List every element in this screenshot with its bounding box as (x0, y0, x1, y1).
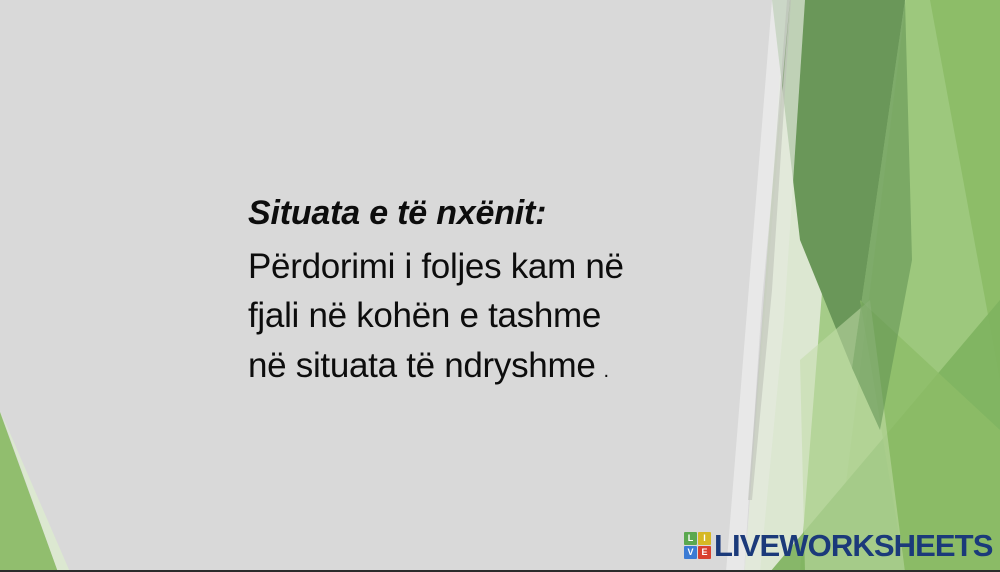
body-line-3-text: në situata të ndryshme (248, 346, 596, 385)
deco-shape-dark-v-band (772, 0, 905, 368)
deco-shape-bottom-left (0, 412, 58, 572)
logo-tile-e: E (698, 546, 711, 559)
deco-shape-light-band (800, 0, 1000, 572)
logo-wordmark: LIVEWORKSHEETS (714, 530, 992, 561)
slide-canvas: Situata e të nxënit: Përdorimi i foljes … (0, 0, 1000, 572)
logo-tile-i: I (698, 532, 711, 545)
deco-shape-bottom-left-pale (0, 410, 70, 572)
page-title: Situata e të nxënit: (248, 192, 768, 236)
body-line-1: Përdorimi i foljes kam në (248, 242, 768, 292)
deco-shape-right-bright (835, 0, 1000, 572)
trailing-period: . (596, 360, 609, 382)
live-tiles-icon: L I V E (684, 532, 711, 559)
deco-shape-dark-accent (852, 0, 912, 430)
liveworksheets-logo[interactable]: L I V E LIVEWORKSHEETS (684, 528, 992, 562)
body-line-2: fjali në kohën e tashme (248, 291, 768, 341)
slide-text-block: Situata e të nxënit: Përdorimi i foljes … (248, 192, 768, 391)
logo-tile-v: V (684, 546, 697, 559)
deco-shape-right-pale-base (745, 0, 1000, 572)
logo-tile-l: L (684, 532, 697, 545)
body-line-3: në situata të ndryshme. (248, 341, 768, 391)
